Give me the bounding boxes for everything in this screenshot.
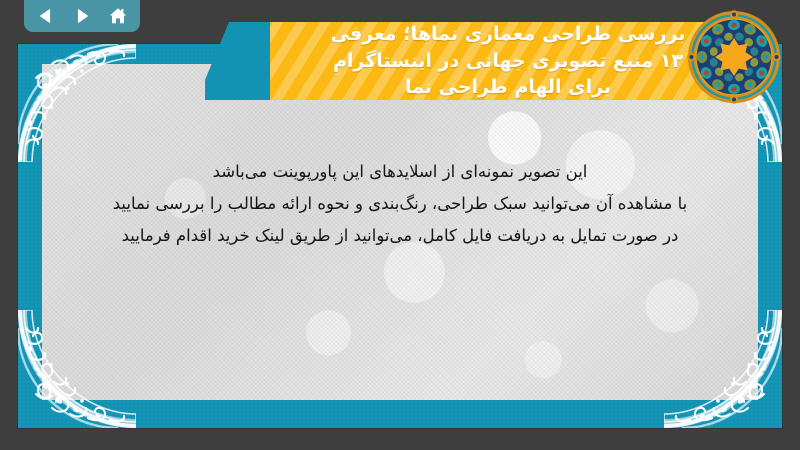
persian-medallion-icon xyxy=(683,6,785,108)
persian-medallion-ornament xyxy=(683,6,785,108)
slide-body-text: این تصویر نمونه‌ای از اسلایدهای این پاور… xyxy=(84,156,716,253)
banner-tail-wedge xyxy=(205,22,275,100)
next-slide-button[interactable] xyxy=(71,5,93,27)
body-line-3: در صورت تمایل به دریافت فایل کامل، می‌تو… xyxy=(84,220,716,252)
title-line-2: ۱۳ منبع تصویری جهانی در اینستاگرام xyxy=(333,48,683,75)
slide-title-banner: بررسی طراحی معماری نماها؛ معرفی ۱۳ منبع … xyxy=(270,22,730,100)
slide-title: بررسی طراحی معماری نماها؛ معرفی ۱۳ منبع … xyxy=(270,22,730,100)
slide-navigation-bar xyxy=(24,0,140,32)
slide-content-canvas: این تصویر نمونه‌ای از اسلایدهای این پاور… xyxy=(42,64,758,400)
body-line-2: با مشاهده آن می‌توانید سبک طراحی، رنگ‌بن… xyxy=(84,188,716,220)
title-line-1: بررسی طراحی معماری نماها؛ معرفی xyxy=(331,21,686,48)
title-line-3: برای الهام طراحی نما xyxy=(405,74,611,101)
triangle-left-icon xyxy=(36,6,56,26)
slide-teal-frame: این تصویر نمونه‌ای از اسلایدهای این پاور… xyxy=(18,44,782,428)
home-button[interactable] xyxy=(107,5,129,27)
banner-tail-icon xyxy=(205,22,275,100)
triangle-right-icon xyxy=(72,6,92,26)
slide-page-background: این تصویر نمونه‌ای از اسلایدهای این پاور… xyxy=(0,0,800,450)
body-line-1: این تصویر نمونه‌ای از اسلایدهای این پاور… xyxy=(84,156,716,188)
previous-slide-button[interactable] xyxy=(35,5,57,27)
home-icon xyxy=(108,6,128,26)
